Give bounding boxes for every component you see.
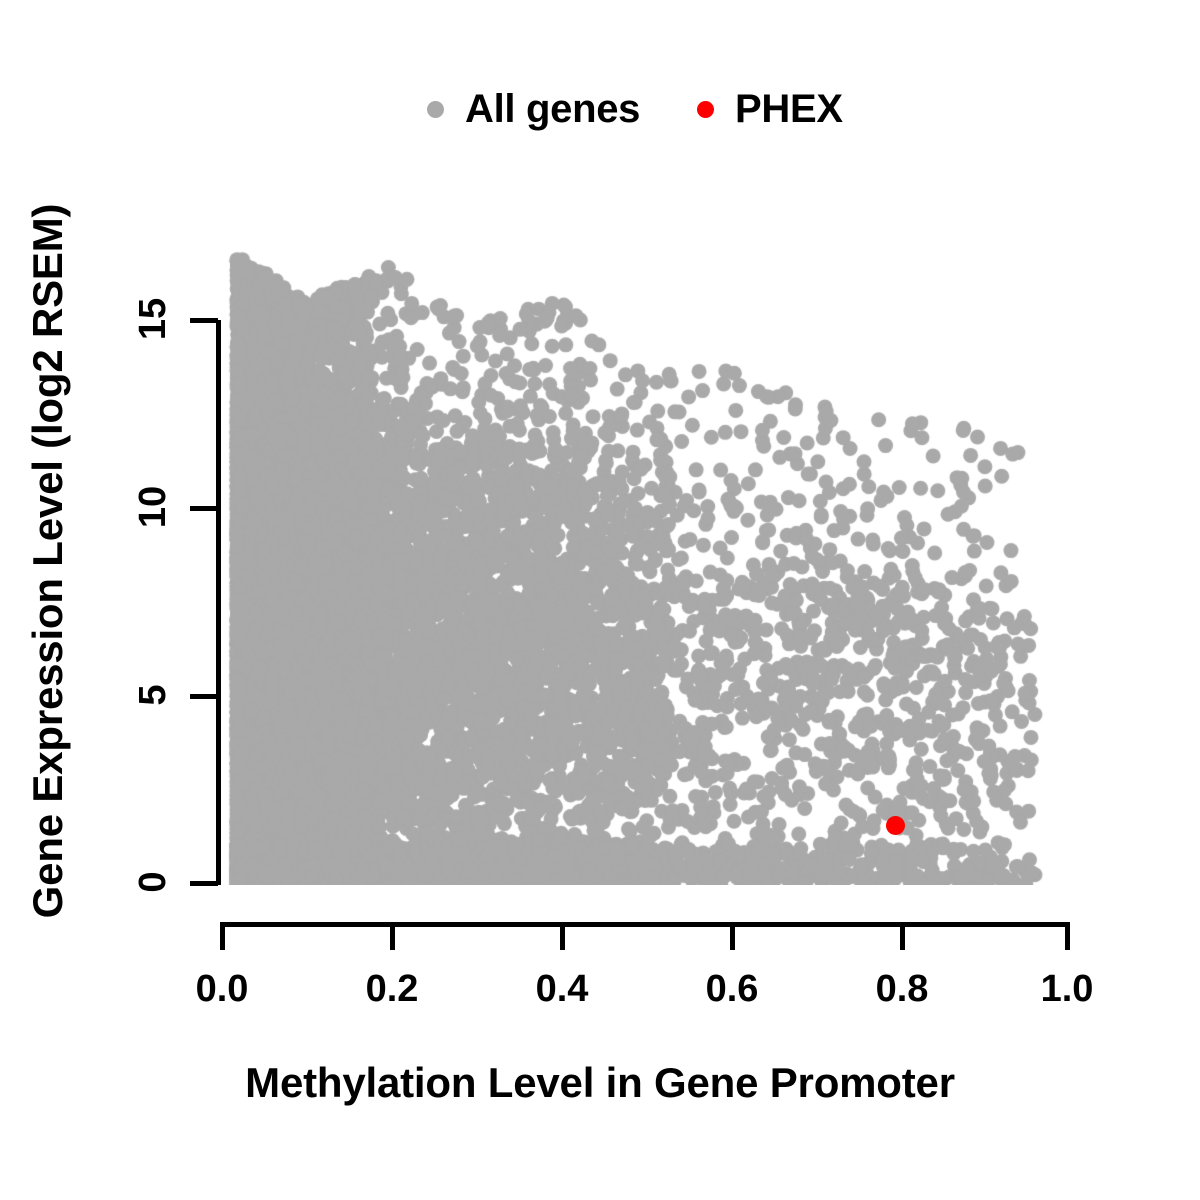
x-tick-0.2 <box>390 922 395 950</box>
y-tick-10 <box>190 506 218 511</box>
scatter-point-phex <box>886 816 905 835</box>
x-tick-0.4 <box>560 922 565 950</box>
x-axis-line <box>220 922 1070 927</box>
x-tick-label-0.4: 0.4 <box>512 970 612 1008</box>
x-tick-label-0.8: 0.8 <box>852 970 952 1008</box>
x-tick-label-0.6: 0.6 <box>682 970 782 1008</box>
y-tick-15 <box>190 318 218 323</box>
x-tick-0.0 <box>220 922 225 950</box>
y-tick-label-15: 15 <box>134 284 172 354</box>
x-tick-0.6 <box>730 922 735 950</box>
x-tick-1.0 <box>1065 922 1070 950</box>
legend-item-phex: PHEX <box>697 78 843 140</box>
y-axis-title: Gene Expression Level (log2 RSEM) <box>27 161 69 961</box>
scatter-points-all-genes <box>220 248 1070 885</box>
legend: All genes PHEX <box>0 78 1200 140</box>
y-tick-0 <box>190 881 218 886</box>
y-axis-line <box>216 320 221 885</box>
x-tick-label-0.2: 0.2 <box>342 970 442 1008</box>
y-tick-label-10: 10 <box>134 472 172 542</box>
x-tick-label-1.0: 1.0 <box>1017 970 1117 1008</box>
plot-area <box>220 248 1070 885</box>
x-tick-label-0.0: 0.0 <box>172 970 272 1008</box>
legend-label-all-genes: All genes <box>465 89 640 129</box>
legend-marker-phex-icon <box>697 101 714 118</box>
y-tick-label-0: 0 <box>134 847 172 917</box>
legend-marker-all-genes-icon <box>427 101 444 118</box>
x-axis-title: Methylation Level in Gene Promoter <box>0 1062 1200 1104</box>
y-tick-5 <box>190 694 218 699</box>
scatter-plot-figure: All genes PHEX 15 10 5 0 0.0 0.2 <box>0 0 1200 1200</box>
x-tick-0.8 <box>900 922 905 950</box>
y-tick-label-5: 5 <box>134 660 172 730</box>
legend-label-phex: PHEX <box>735 89 843 129</box>
legend-item-all-genes: All genes <box>427 78 640 140</box>
